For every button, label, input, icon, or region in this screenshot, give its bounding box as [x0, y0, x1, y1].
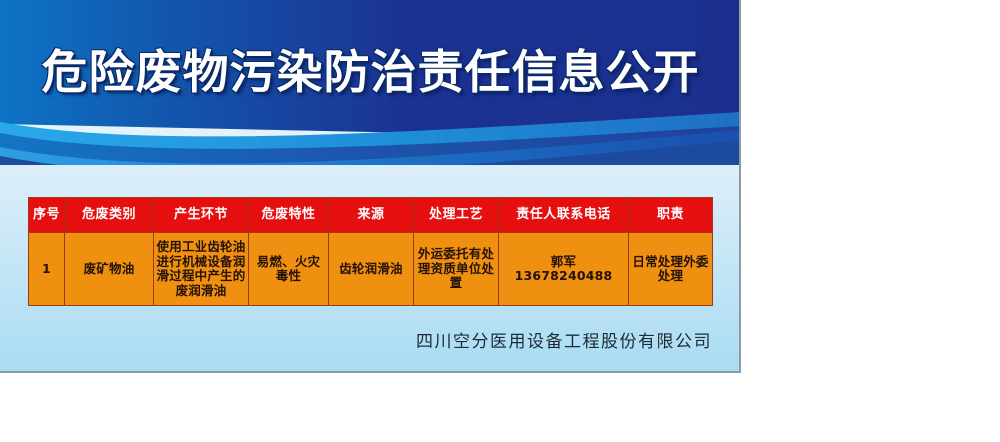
table-header-row: 序号 危废类别 产生环节 危废特性 来源 处理工艺 责任人联系电话 职责	[29, 198, 713, 233]
column-header-treatment: 处理工艺	[414, 198, 499, 233]
cell-contact: 郭军 13678240488	[499, 233, 629, 306]
column-header-duty: 职责	[629, 198, 713, 233]
column-header-contact: 责任人联系电话	[499, 198, 629, 233]
contact-phone: 13678240488	[501, 269, 626, 284]
information-poster: 危险废物污染防治责任信息公开 序号 危废类别 产生环节 危废特性 来源 处理工艺…	[0, 0, 741, 373]
column-header-category: 危废类别	[65, 198, 154, 233]
hazardous-waste-table: 序号 危废类别 产生环节 危废特性 来源 处理工艺 责任人联系电话 职责 1 废…	[28, 197, 713, 306]
cell-source: 齿轮润滑油	[329, 233, 414, 306]
column-header-property: 危废特性	[249, 198, 329, 233]
cell-category: 废矿物油	[65, 233, 154, 306]
cell-generation-step: 使用工业齿轮油进行机械设备润滑过程中产生的废润滑油	[154, 233, 249, 306]
cell-index: 1	[29, 233, 65, 306]
poster-banner: 危险废物污染防治责任信息公开	[0, 0, 741, 165]
column-header-generation: 产生环节	[154, 198, 249, 233]
table-row: 1 废矿物油 使用工业齿轮油进行机械设备润滑过程中产生的废润滑油 易燃、火灾毒性…	[29, 233, 713, 306]
cell-duty: 日常处理外委处理	[629, 233, 713, 306]
column-header-source: 来源	[329, 198, 414, 233]
company-name: 四川空分医用设备工程股份有限公司	[28, 327, 712, 352]
column-header-index: 序号	[29, 198, 65, 233]
cell-treatment-process: 外运委托有处理资质单位处置	[414, 233, 499, 306]
cell-hazard-property: 易燃、火灾毒性	[249, 233, 329, 306]
contact-name: 郭军	[501, 255, 626, 270]
page-title: 危险废物污染防治责任信息公开	[0, 44, 741, 100]
